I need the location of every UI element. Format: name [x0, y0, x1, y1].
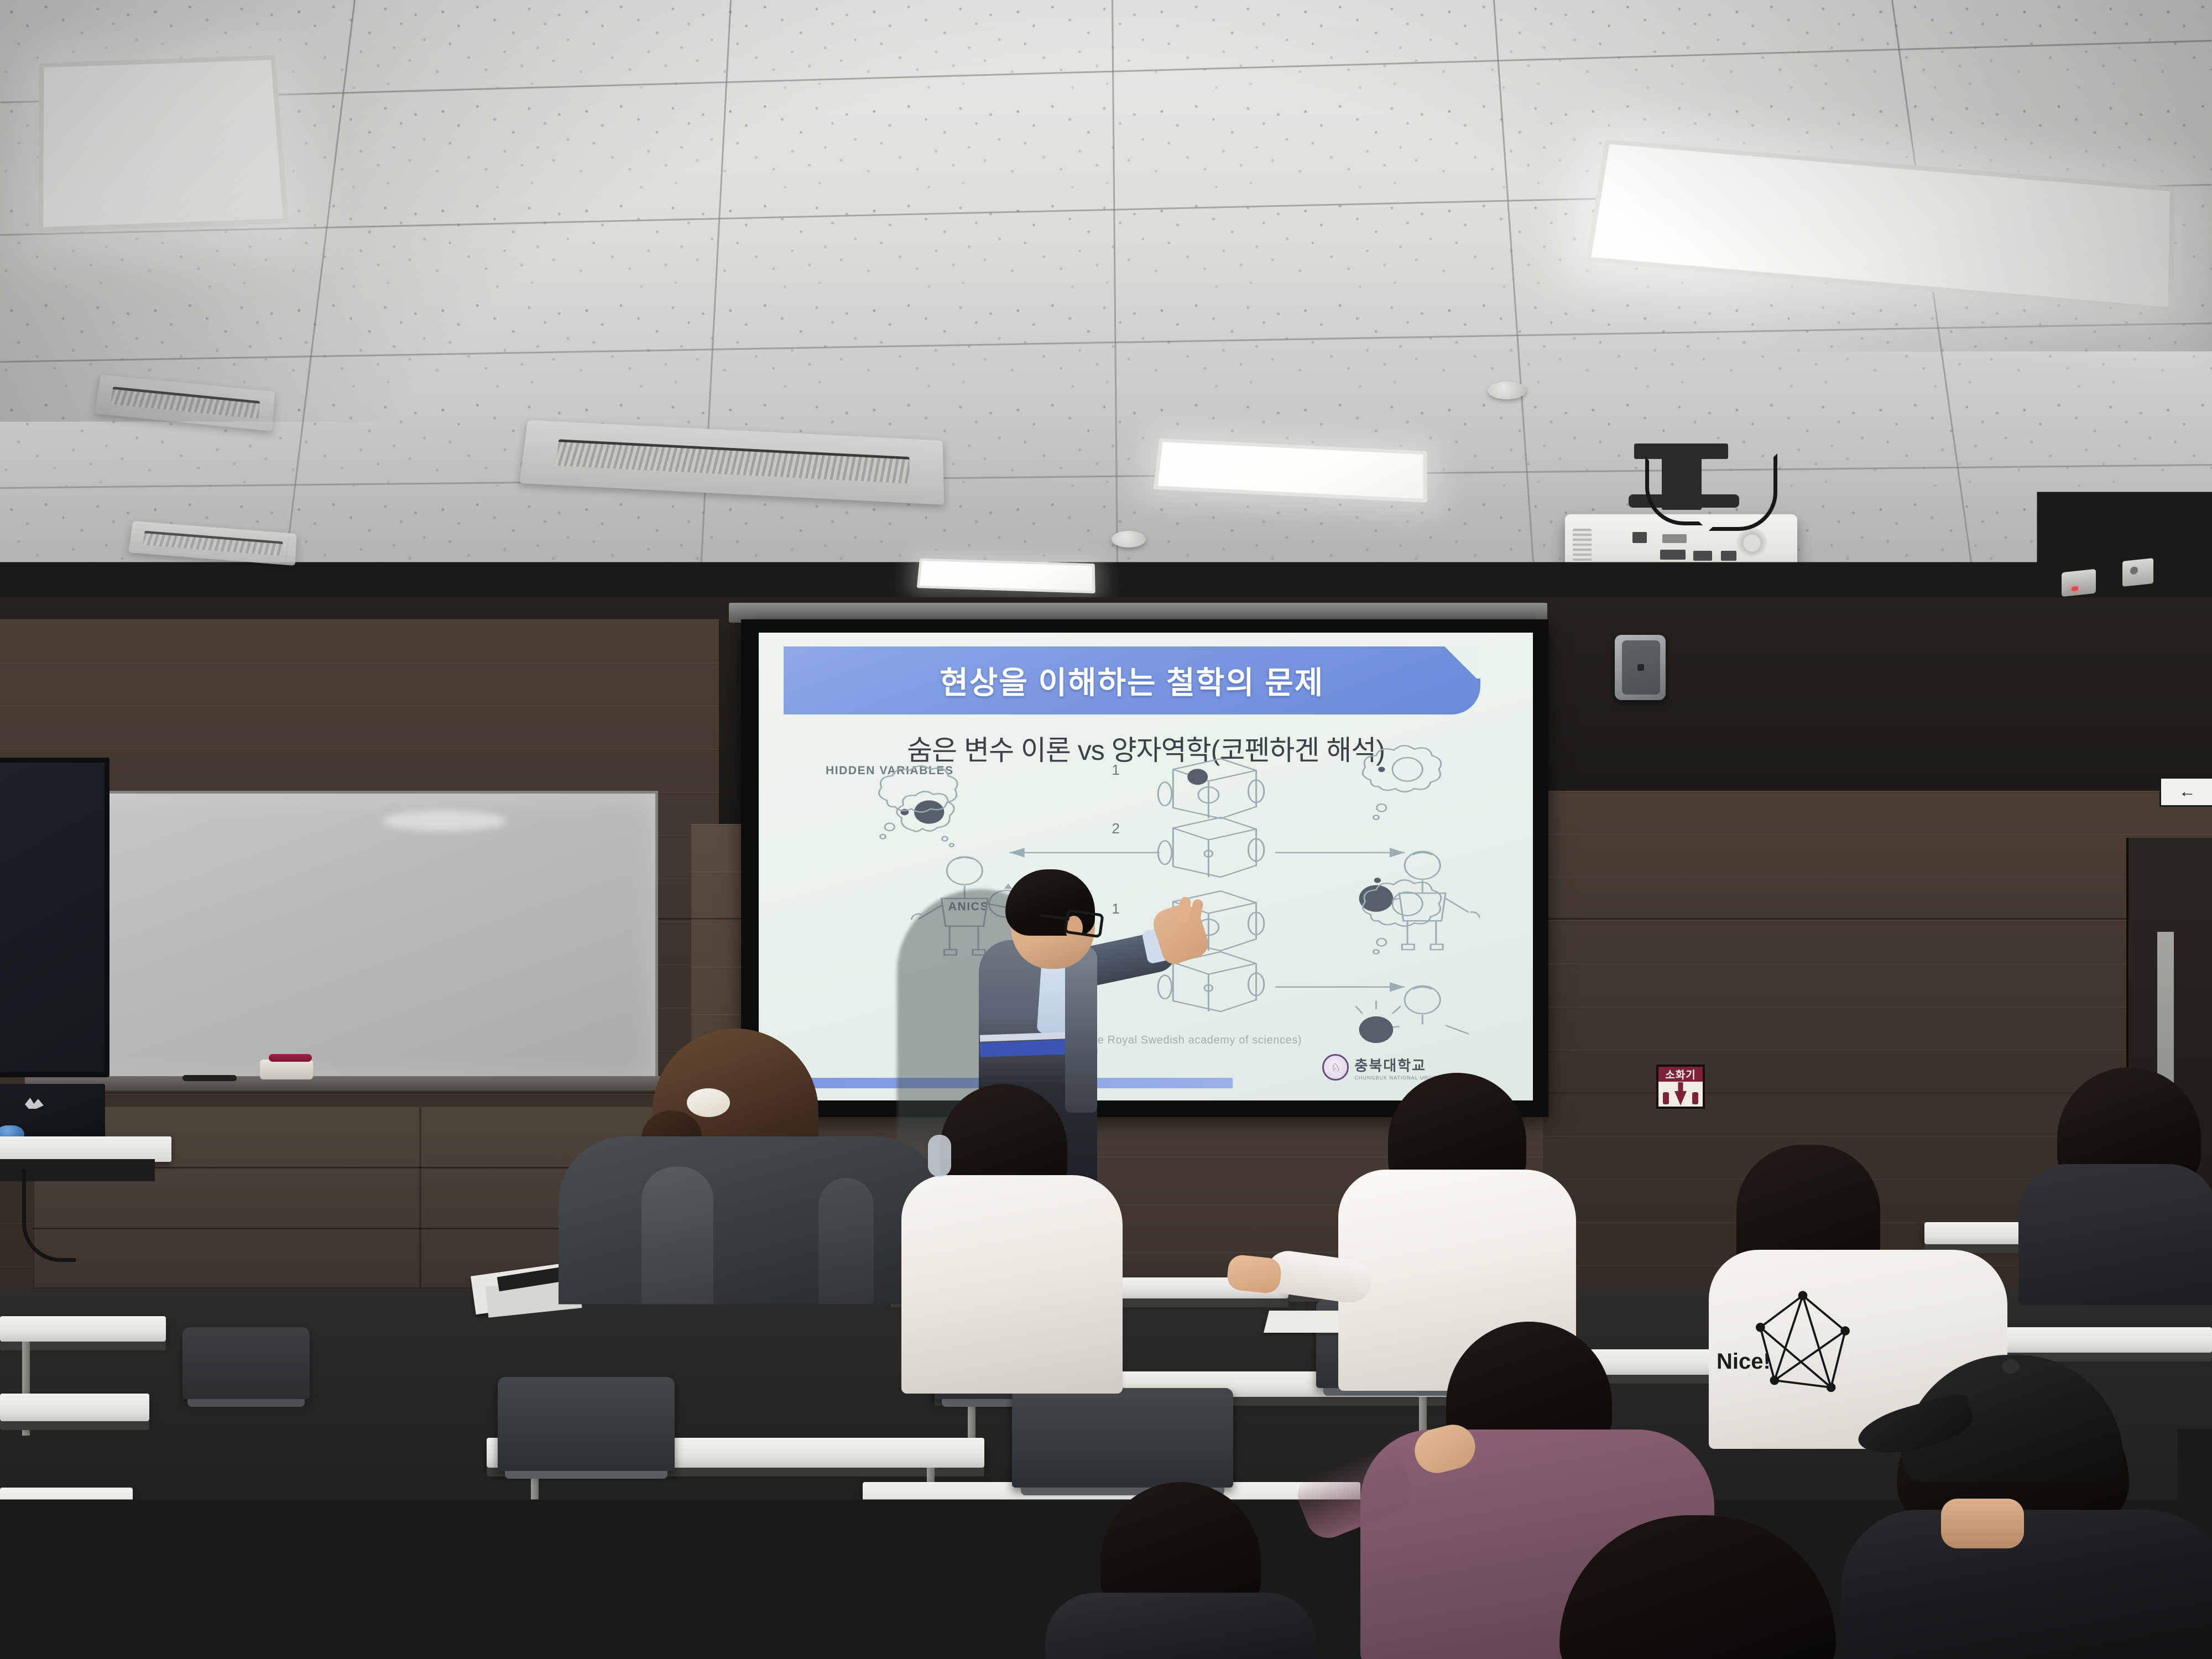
chair[interactable]: [182, 1327, 310, 1399]
lectern-top: [0, 1136, 171, 1162]
spark-lines-icon: [1355, 1001, 1400, 1014]
hvac-slats: [110, 387, 260, 419]
ball-dark-icon: [1187, 769, 1208, 785]
desk-edge: [0, 1517, 133, 1526]
ceiling-light-panel: [917, 559, 1095, 593]
spark-icon: [1374, 878, 1381, 883]
university-name: 충북대학교: [1354, 1055, 1455, 1075]
sensor-lens-icon: [2130, 566, 2138, 575]
slide-title: 현상을 이해하는 철학의 문제: [940, 658, 1324, 703]
attendee-hair: [1100, 1482, 1261, 1609]
speaker-port: [1637, 664, 1644, 671]
slide-corner-fold: [1441, 646, 1480, 679]
attendee-torso: [901, 1175, 1123, 1394]
attendee-torso: [2018, 1164, 2212, 1305]
projector-port: [1662, 534, 1687, 543]
hair-scrunchie: [687, 1088, 730, 1117]
attendee-bottom-center: [1526, 1515, 1869, 1659]
attendee-torso: [1841, 1510, 2212, 1659]
camera-led-icon: [2072, 586, 2078, 591]
tee-graphic-text: Nice!: [1717, 1349, 1771, 1374]
hvac-slats: [143, 531, 283, 556]
motion-sensor-icon: [2122, 558, 2153, 587]
hvac-slats: [555, 439, 910, 484]
exit-arrow-icon: ←: [2179, 782, 2196, 801]
attendee-torso: [559, 1136, 946, 1501]
fire-extinguisher-pictogram: [1658, 1082, 1703, 1107]
lecture-hall-photo: ← 소화기 현상을 이해하는 철학의 문제 숨은 변수 이론 vs 양자역학(코…: [0, 0, 2212, 1659]
ceiling-light-panel: [38, 55, 289, 233]
attendee-black-cap: [1841, 1288, 2212, 1659]
projector-port: [1693, 551, 1712, 561]
attendee-far-right: [1985, 1067, 2212, 1305]
jacket-sheen: [818, 1178, 874, 1432]
projector-fan: [1736, 528, 1767, 559]
desk: [0, 1316, 166, 1342]
chair[interactable]: [1012, 1388, 1233, 1488]
wall-monitor: [0, 758, 109, 1077]
arrow-right-icon: [1275, 848, 1405, 857]
attendee-hand: [1226, 1254, 1282, 1295]
podium-logo-icon: [25, 1098, 44, 1109]
cabinet-seam: [33, 1228, 420, 1229]
smoke-detector-icon: [1488, 382, 1526, 399]
fire-extinguisher-sign: 소화기: [1656, 1065, 1705, 1109]
desk: [0, 1394, 149, 1421]
arrow-right-icon: [1275, 983, 1405, 992]
attendee-white-shirt-left: [896, 1084, 1128, 1394]
attendee-dark-shirt: [1034, 1482, 1322, 1659]
extinguisher-icon: [1692, 1092, 1698, 1104]
projector-vent: [1573, 529, 1592, 564]
down-arrow-icon: [1674, 1091, 1687, 1105]
jacket-sheen: [641, 1167, 713, 1443]
security-camera-icon: [2062, 569, 2096, 597]
desk: [0, 1488, 133, 1517]
mask-strap: [928, 1135, 951, 1177]
projector-port: [1721, 551, 1736, 561]
arrow-left-icon: [1010, 848, 1160, 857]
whiteboard-pen: [182, 1075, 237, 1081]
whiteboard-marker: [269, 1054, 312, 1062]
presenter-glasses: [1063, 909, 1104, 938]
chair-frame: [187, 1399, 305, 1407]
wall-speaker: [1615, 635, 1666, 700]
whiteboard-eraser: [260, 1060, 313, 1079]
exit-direction-sign: ←: [2159, 777, 2212, 807]
extinguisher-icon: [1663, 1092, 1669, 1104]
slide-title-bar: 현상을 이해하는 철학의 문제: [784, 646, 1480, 714]
attendee-bottom-left: [763, 1559, 995, 1659]
thought-ball-small-icon: [1378, 901, 1385, 907]
desk-edge: [0, 1421, 149, 1430]
attendee-hair: [763, 1559, 995, 1659]
thought-ball-small-icon: [1378, 767, 1385, 773]
box-icon: [1158, 759, 1264, 818]
attendee-torso: [1045, 1593, 1316, 1659]
whiteboard-glare: [383, 811, 507, 831]
smoke-detector-icon: [1112, 531, 1146, 547]
attendee-hair: [1559, 1515, 1836, 1659]
thought-bubble-icon: [879, 766, 958, 839]
attendee-neck: [1941, 1499, 2024, 1548]
cap-button-icon: [2002, 1359, 2020, 1374]
down-arrow-stem-icon: [1678, 1082, 1683, 1091]
projector-port: [1660, 550, 1686, 560]
fire-extinguisher-label: 소화기: [1658, 1067, 1703, 1082]
ceiling: [0, 0, 2212, 619]
projector-port: [1632, 532, 1647, 543]
